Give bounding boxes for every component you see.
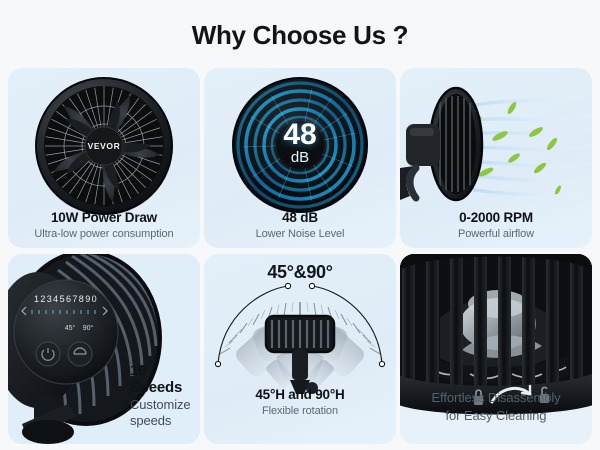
card-subtitle: Flexible rotation [204,405,396,417]
noise-unit: dB [291,150,309,165]
vevor-logo-text: VEVOR [88,141,121,151]
feature-card-power-draw[interactable]: VEVOR 10W Power Draw Ultra-low power con… [8,68,200,248]
page-title: Why Choose Us ? [0,0,600,52]
feature-card-disassembly[interactable]: Effortless Disassembly for Easy Cleaning [400,254,592,444]
feature-card-grid: VEVOR 10W Power Draw Ultra-low power con… [8,68,592,444]
angle-label-90: 90° [83,324,94,332]
fan-head [400,88,482,200]
card-title: 0-2000 RPM [400,210,592,225]
panel-digits-text: 1234567890 [34,294,98,304]
noise-value: 48 [283,120,316,150]
card-subtitle-line1: Customize [130,397,200,413]
card-subtitle: Ultra-low power consumption [8,228,200,240]
card-title: 45°H and 90°H [204,387,396,402]
side-fan-airflow-illustration [400,72,592,212]
feature-card-noise-level[interactable]: 48 dB 48 dB Lower Noise Level [204,68,396,248]
fan-sound-waves-photo: 48 dB [204,74,396,210]
card-caption: 10W Power Draw Ultra-low power consumpti… [8,210,200,240]
card-caption-line2: for Easy Cleaning [400,407,592,425]
card-subtitle: Lower Noise Level [204,228,396,240]
card-caption: 48 dB Lower Noise Level [204,210,396,240]
card-caption: 45°H and 90°H Flexible rotation [204,387,396,417]
card-caption-line1: Effortless Disassembly [400,389,592,407]
card-title: 10 Speeds [130,362,200,396]
feature-card-rotation[interactable]: 45°&90° [204,254,396,444]
front-fan-photo: VEVOR [8,76,200,206]
feature-card-rpm[interactable]: 0-2000 RPM Powerful airflow [400,68,592,248]
feature-card-speeds[interactable]: 1234567890 45° 90° [8,254,200,444]
card-title: 48 dB [204,210,396,225]
angle-label-45: 45° [65,324,76,332]
front-fan-illustration: VEVOR [34,76,174,216]
card-subtitle: Powerful airflow [400,228,592,240]
card-subtitle-line2: speeds [130,413,200,429]
card-caption: Effortless Disassembly for Easy Cleaning [400,389,592,424]
card-caption: 0-2000 RPM Powerful airflow [400,210,592,240]
card-title: 10W Power Draw [8,210,200,225]
fan-airflow-leaves-photo [400,72,592,212]
promo-page: Why Choose Us ? [0,0,600,450]
power-button-icon [36,342,60,366]
card-caption: 10 Speeds Customize speeds [130,362,200,430]
